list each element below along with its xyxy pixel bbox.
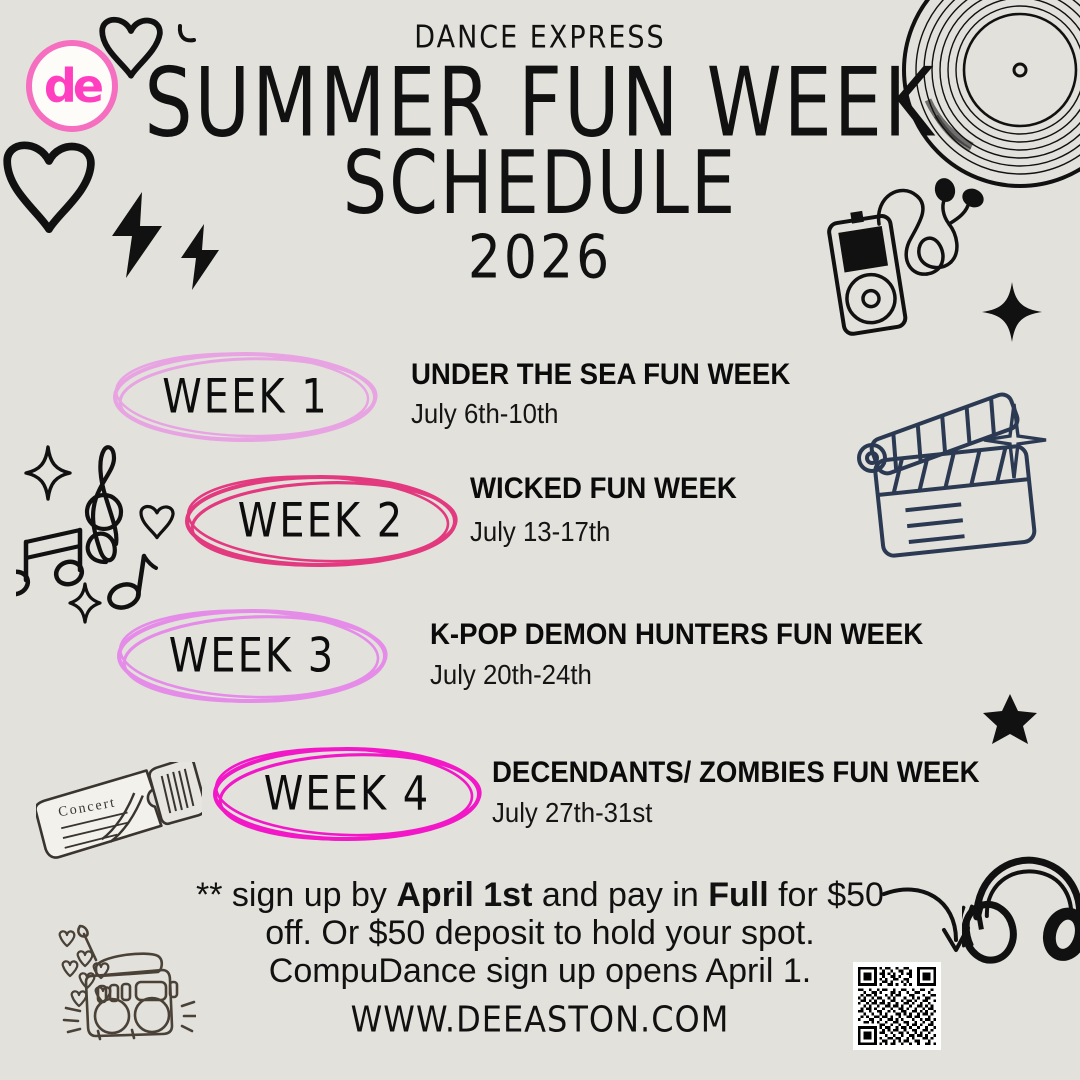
star-filled-icon [982, 692, 1038, 746]
concert-ticket-icon: Concert [36, 762, 202, 870]
week-theme-2: WICKED FUN WEEK [470, 472, 737, 506]
qr-code-image [858, 967, 936, 1045]
year-label: 2026 [0, 224, 1080, 293]
week-theme-3: K-POP DEMON HUNTERS FUN WEEK [430, 618, 923, 652]
week-dates-2: July 13-17th [470, 516, 610, 548]
music-note-single-icon [100, 548, 162, 610]
music-note-beamed-icon [16, 520, 94, 600]
heart-outline-mini-icon [136, 500, 178, 540]
clapperboard-icon [850, 392, 1080, 582]
week-badge-3: WEEK 3 [112, 604, 392, 708]
qr-code[interactable] [853, 962, 941, 1050]
week-badge-4: WEEK 4 [208, 742, 486, 846]
headphones-icon [962, 848, 1080, 966]
week-badge-2: WEEK 2 [180, 470, 462, 572]
sparkle-outline-small-icon [68, 582, 102, 624]
promo-mid: and pay in [532, 876, 708, 914]
week-dates-3: July 20th-24th [430, 659, 592, 691]
curved-arrow-icon [880, 878, 990, 968]
promo-prefix: ** sign up by [196, 876, 396, 914]
promo-text: ** sign up by April 1st and pay in Full … [190, 876, 890, 990]
week-label-1: WEEK 1 [162, 370, 329, 424]
week-dates-1: July 6th-10th [411, 398, 559, 430]
sparkle-outline-icon [24, 445, 72, 501]
week-dates-4: July 27th-31st [492, 797, 652, 829]
week-theme-1: UNDER THE SEA FUN WEEK [411, 358, 790, 392]
week-theme-4: DECENDANTS/ ZOMBIES FUN WEEK [492, 756, 980, 790]
week-label-2: WEEK 2 [238, 494, 405, 548]
week-badge-1: WEEK 1 [108, 348, 383, 446]
poster-canvas: Concert [0, 0, 1080, 1080]
promo-bold-full: Full [708, 876, 768, 914]
week-label-3: WEEK 3 [169, 629, 336, 683]
svg-text:Concert: Concert [57, 795, 117, 820]
treble-clef-icon [76, 440, 132, 570]
promo-bold-date: April 1st [396, 876, 532, 914]
week-label-4: WEEK 4 [264, 767, 431, 821]
page-title-line2: SCHEDULE [0, 132, 1080, 235]
